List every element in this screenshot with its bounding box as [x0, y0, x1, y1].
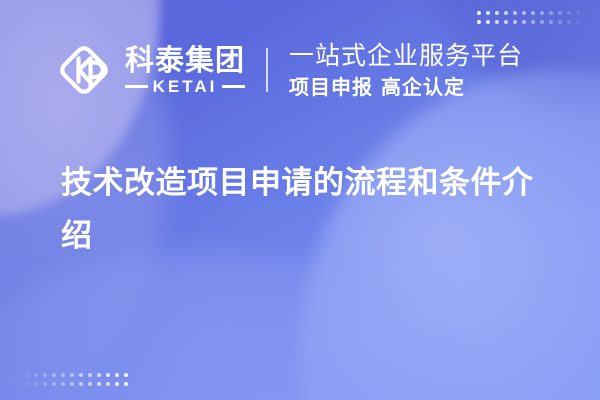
decor-dot	[106, 373, 110, 377]
decor-dot	[79, 382, 83, 386]
decor-dot	[61, 382, 65, 386]
latin-rule-left	[125, 85, 148, 88]
decor-dot	[124, 373, 128, 377]
decor-dot	[43, 382, 47, 386]
decor-dot	[52, 373, 56, 377]
decor-dot	[115, 382, 119, 386]
decor-dot	[88, 373, 92, 377]
decor-dot	[106, 382, 110, 386]
tagline-secondary: 项目申报 高企认定	[289, 74, 523, 100]
brand-name-cn: 科泰集团	[125, 45, 245, 75]
tagline-primary: 一站式企业服务平台	[289, 40, 523, 71]
decor-dot	[25, 382, 29, 386]
brand-logo[interactable]: 科泰集团 KETAI	[53, 39, 245, 101]
decor-dot	[34, 382, 38, 386]
brand-name-latin: KETAI	[148, 78, 223, 95]
promo-banner: 科泰集团 KETAI 一站式企业服务平台 项目申报 高企认定 技术改造项目申请的…	[0, 0, 600, 400]
decor-dot	[34, 373, 38, 377]
decor-dot	[43, 373, 47, 377]
decor-dot	[52, 382, 56, 386]
brand-name-latin-row: KETAI	[125, 78, 245, 95]
decor-dot	[70, 382, 74, 386]
dot-row	[25, 373, 133, 382]
header-divider	[266, 48, 268, 92]
decor-dot	[88, 382, 92, 386]
decor-dot	[61, 373, 65, 377]
decor-dot	[79, 373, 83, 377]
ketai-diamond-monogram-icon	[53, 39, 115, 101]
decor-dot	[70, 373, 74, 377]
banner-header: 科泰集团 KETAI 一站式企业服务平台 项目申报 高企认定	[0, 0, 600, 140]
decor-dot	[115, 373, 119, 377]
decor-dot	[124, 382, 128, 386]
decor-dot	[97, 373, 101, 377]
latin-rule-right	[222, 85, 245, 88]
brand-wordmark: 科泰集团 KETAI	[125, 45, 245, 95]
dot-grid-bottom-left	[25, 373, 133, 391]
decor-dot	[25, 373, 29, 377]
page-title: 技术改造项目申请的流程和条件介绍	[61, 157, 561, 264]
dot-row	[25, 382, 133, 391]
decor-dot	[97, 382, 101, 386]
tagline-block: 一站式企业服务平台 项目申报 高企认定	[289, 40, 523, 100]
